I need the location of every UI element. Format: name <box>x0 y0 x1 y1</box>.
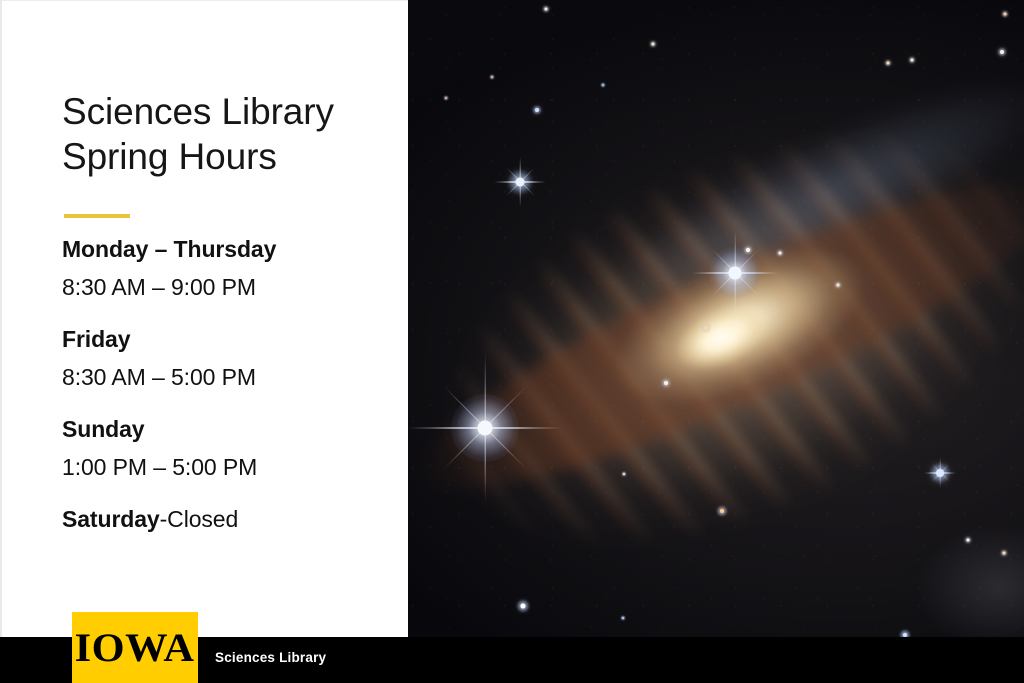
galaxy-photo <box>408 0 1024 683</box>
gold-accent-rule <box>64 214 130 218</box>
page-title-line-1: Sciences Library <box>62 89 392 134</box>
iowa-logo: IOWA <box>72 612 198 683</box>
page-title-line-2: Spring Hours <box>62 134 392 179</box>
hours-time-value: 1:00 PM – 5:00 PM <box>62 453 402 482</box>
iowa-logo-wordmark: IOWA <box>75 628 195 668</box>
hours-entry-friday: Friday 8:30 AM – 5:00 PM <box>62 325 402 393</box>
hours-list: Monday – Thursday 8:30 AM – 9:00 PM Frid… <box>62 235 402 534</box>
hours-time-value: 8:30 AM – 9:00 PM <box>62 273 402 302</box>
footer-unit-label: Sciences Library <box>215 650 326 665</box>
info-panel: Sciences Library Spring Hours Monday – T… <box>0 0 408 683</box>
hours-closed-value: -Closed <box>160 506 239 532</box>
hours-entry-monday-thursday: Monday – Thursday 8:30 AM – 9:00 PM <box>62 235 402 303</box>
hours-day-label: Sunday <box>62 415 402 444</box>
hours-day-name: Saturday <box>62 506 160 532</box>
hours-day-label: Monday – Thursday <box>62 235 402 264</box>
hours-entry-sunday: Sunday 1:00 PM – 5:00 PM <box>62 415 402 483</box>
photo-grain-overlay <box>408 0 1024 683</box>
hours-time-value: 8:30 AM – 5:00 PM <box>62 363 402 392</box>
hours-day-label: Saturday-Closed <box>62 505 402 534</box>
page-title: Sciences Library Spring Hours <box>62 89 392 179</box>
hours-entry-saturday: Saturday-Closed <box>62 505 402 534</box>
hours-day-label: Friday <box>62 325 402 354</box>
slide-root: Sciences Library Spring Hours Monday – T… <box>0 0 1024 683</box>
